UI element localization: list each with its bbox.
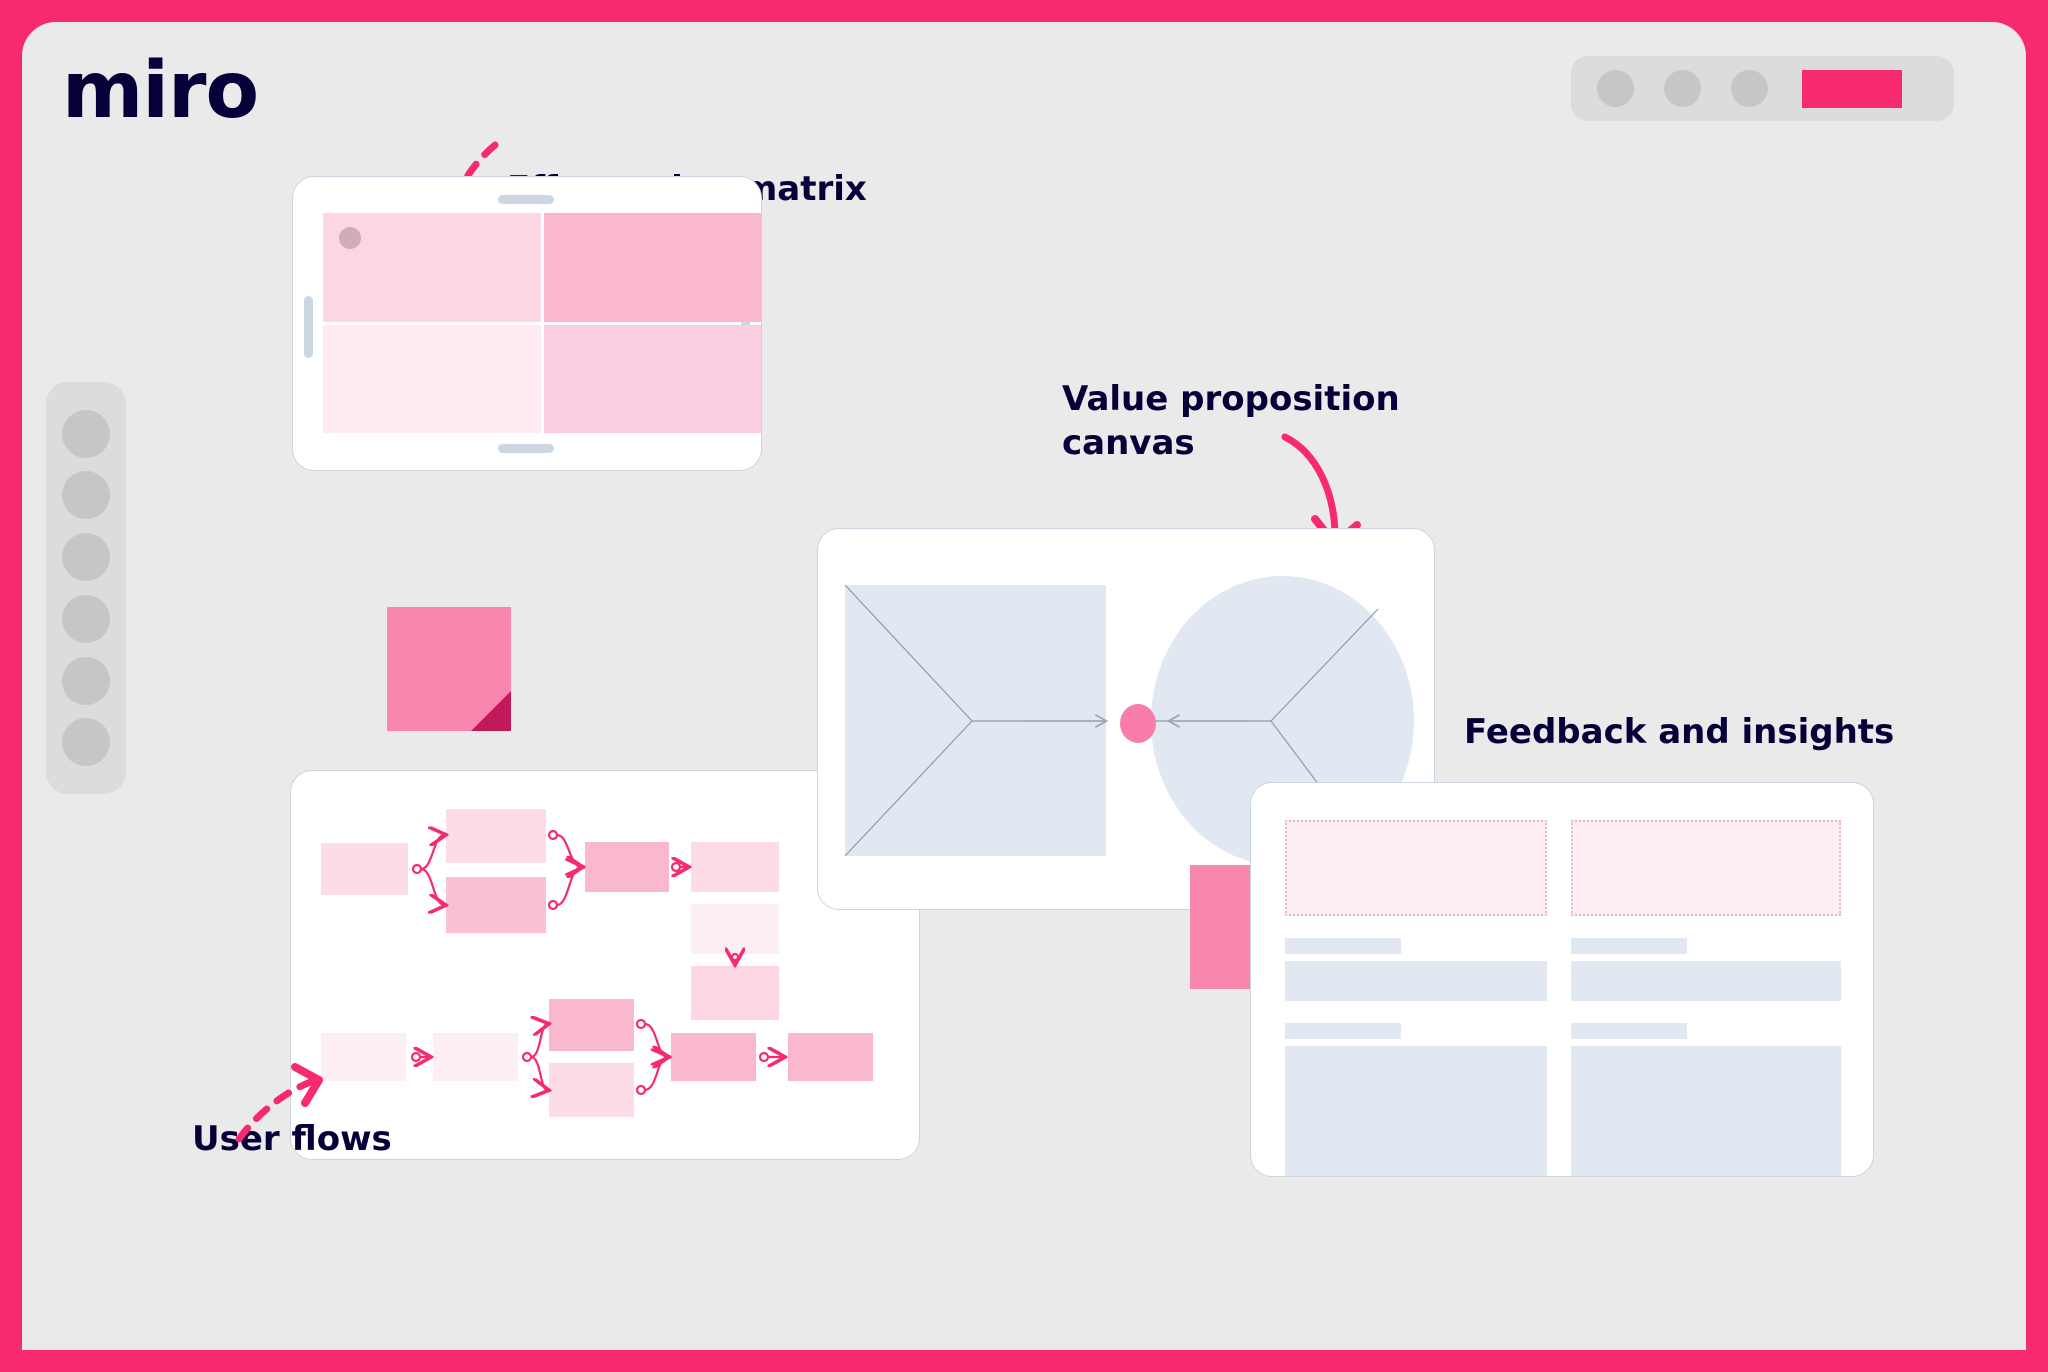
- insight-title-bar: [1571, 1023, 1687, 1039]
- top-toolbar[interactable]: [1571, 56, 1954, 121]
- effort-matrix-grid: [323, 213, 761, 433]
- idea-placeholder-2[interactable]: [1571, 820, 1841, 916]
- tool-2-icon[interactable]: [62, 471, 110, 519]
- toolbar-dot-3-icon[interactable]: [1731, 70, 1768, 107]
- label-feedback-and-insights: Feedback and insights: [1464, 710, 1894, 754]
- toolbar-share-button[interactable]: [1802, 70, 1902, 108]
- left-toolbar[interactable]: [46, 382, 126, 794]
- tool-3-icon[interactable]: [62, 533, 110, 581]
- vpc-fit-marker[interactable]: [1120, 704, 1156, 743]
- idea-placeholder-1[interactable]: [1285, 820, 1547, 916]
- flow-row-1-nodes: [321, 809, 779, 1020]
- board-canvas[interactable]: miro Effort value matrix: [22, 22, 2026, 1350]
- tool-1-icon[interactable]: [62, 410, 110, 458]
- quadrant-top-right[interactable]: [544, 213, 762, 322]
- label-user-flows: User flows: [192, 1117, 392, 1161]
- insight-title-bar: [1571, 938, 1687, 954]
- insight-body-block: [1571, 1046, 1841, 1176]
- insight-body-bar: [1571, 961, 1841, 1001]
- feedback-column-left: [1285, 820, 1547, 1176]
- card-feedback-and-insights[interactable]: [1250, 782, 1874, 1177]
- tool-6-icon[interactable]: [62, 718, 110, 766]
- tool-4-icon[interactable]: [62, 595, 110, 643]
- tablet-left-handle: [304, 296, 313, 358]
- card-effort-value-matrix[interactable]: [292, 176, 762, 471]
- miro-logo[interactable]: miro: [62, 52, 258, 130]
- toolbar-dot-2-icon[interactable]: [1664, 70, 1701, 107]
- vpc-value-map-square[interactable]: [845, 585, 1106, 856]
- tool-5-icon[interactable]: [62, 657, 110, 705]
- quadrant-bottom-left[interactable]: [323, 325, 541, 434]
- matrix-item-dot[interactable]: [339, 227, 361, 249]
- insight-body-bar: [1285, 961, 1547, 1001]
- sticky-note-effort[interactable]: [387, 607, 511, 731]
- tablet-home-notch: [498, 444, 554, 453]
- tablet-speaker-notch: [498, 195, 554, 204]
- insight-title-bar: [1285, 938, 1401, 954]
- insight-body-block: [1285, 1046, 1547, 1176]
- feedback-column-right: [1571, 820, 1841, 1176]
- insight-title-bar: [1285, 1023, 1401, 1039]
- quadrant-bottom-right[interactable]: [544, 325, 762, 434]
- toolbar-dot-1-icon[interactable]: [1597, 70, 1634, 107]
- sticky-fold-corner-icon: [471, 691, 511, 731]
- flow-row-2-nodes: [321, 999, 873, 1117]
- app-window-frame: miro Effort value matrix: [0, 0, 2048, 1372]
- label-value-proposition-canvas: Value proposition canvas: [1062, 377, 1400, 465]
